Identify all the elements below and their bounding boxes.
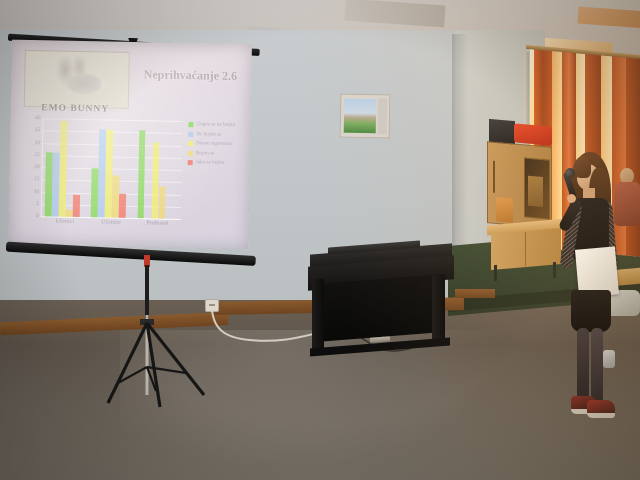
chart-legend-item: Ne bojim se	[188, 131, 246, 138]
chart-y-tick: 20	[24, 164, 40, 170]
chart-legend-swatch	[188, 141, 193, 146]
slide-logo	[24, 50, 130, 109]
chart-y-tick: 0	[23, 213, 39, 219]
chart-bar	[119, 193, 126, 218]
piano-front-panel	[316, 274, 444, 342]
chart-legend-swatch	[188, 122, 193, 127]
presenter	[555, 150, 635, 440]
chart-y-tick: 5	[23, 201, 39, 207]
chart-bar-group	[88, 119, 136, 218]
chart-bars	[42, 118, 183, 219]
presenter-leg	[577, 328, 589, 404]
chart-legend-item: Uopće se ne bojim	[188, 121, 246, 128]
chart-legend-item: Bojim se	[188, 150, 246, 157]
chart-legend-label: Bojim se	[196, 150, 215, 156]
screenshot-root: EMO BUNNY Neprihvaćanje 2.6 051015202530…	[0, 0, 640, 480]
presenter-hair-front	[573, 156, 591, 178]
chart-y-tick: 15	[23, 176, 39, 182]
chart-y-tick: 35	[24, 127, 40, 133]
chart-legend-label: Uopće se ne bojim	[196, 121, 235, 128]
slide-logo-text: EMO BUNNY	[24, 103, 127, 115]
presenter-hand	[567, 194, 576, 203]
chart-legend-label: Ne bojim se	[196, 131, 221, 137]
presenter-skirt	[571, 290, 611, 332]
chart-legend-label: Jako se bojim	[196, 159, 225, 166]
water-bottle[interactable]	[603, 350, 615, 368]
chart-x-label: Učenice	[88, 219, 134, 226]
slide-title: Neprihvaćanje 2.6	[131, 67, 249, 84]
presenter-leg	[591, 328, 603, 406]
chart-y-tick: 10	[23, 188, 39, 194]
piano-leg	[432, 274, 445, 343]
sneaker	[587, 400, 615, 418]
chart-legend-label: Nisam sigurna/na	[196, 140, 233, 147]
chart-legend-item: Jako se bojim	[188, 159, 246, 166]
chart-bar	[73, 195, 80, 217]
projection-screen: EMO BUNNY Neprihvaćanje 2.6 051015202530…	[4, 30, 260, 265]
chart-bar	[66, 209, 73, 216]
chart-legend: Uopće se ne bojimNe bojim seNisam sigurn…	[188, 121, 247, 170]
piano-leg	[312, 279, 324, 352]
chart-legend-swatch	[188, 132, 193, 137]
chart-bar	[137, 130, 145, 218]
chart-bar	[158, 187, 165, 219]
tripod-stand	[100, 255, 230, 415]
digital-piano	[306, 239, 456, 357]
chart-bar-group	[42, 118, 90, 217]
chart-x-label: Profesori	[134, 220, 180, 227]
chart-bar-group	[134, 120, 182, 219]
chart-y-tick: 30	[24, 139, 40, 145]
chart-legend-item: Nisam sigurna/na	[188, 140, 246, 147]
chart-bar	[59, 121, 67, 217]
chart-y-tick: 25	[24, 152, 40, 158]
bunny-photo-icon	[33, 55, 122, 102]
chart-legend-swatch	[188, 160, 193, 165]
bar-chart: 0510152025303540 UčeniciUčeniceProfesori	[22, 118, 184, 233]
chart-legend-swatch	[188, 151, 193, 156]
chart-x-label: Učenici	[41, 218, 87, 225]
chart-y-tick: 40	[24, 115, 40, 121]
screen-surface: EMO BUNNY Neprihvaćanje 2.6 051015202530…	[8, 40, 252, 250]
projected-slide: EMO BUNNY Neprihvaćanje 2.6 051015202530…	[8, 40, 252, 250]
